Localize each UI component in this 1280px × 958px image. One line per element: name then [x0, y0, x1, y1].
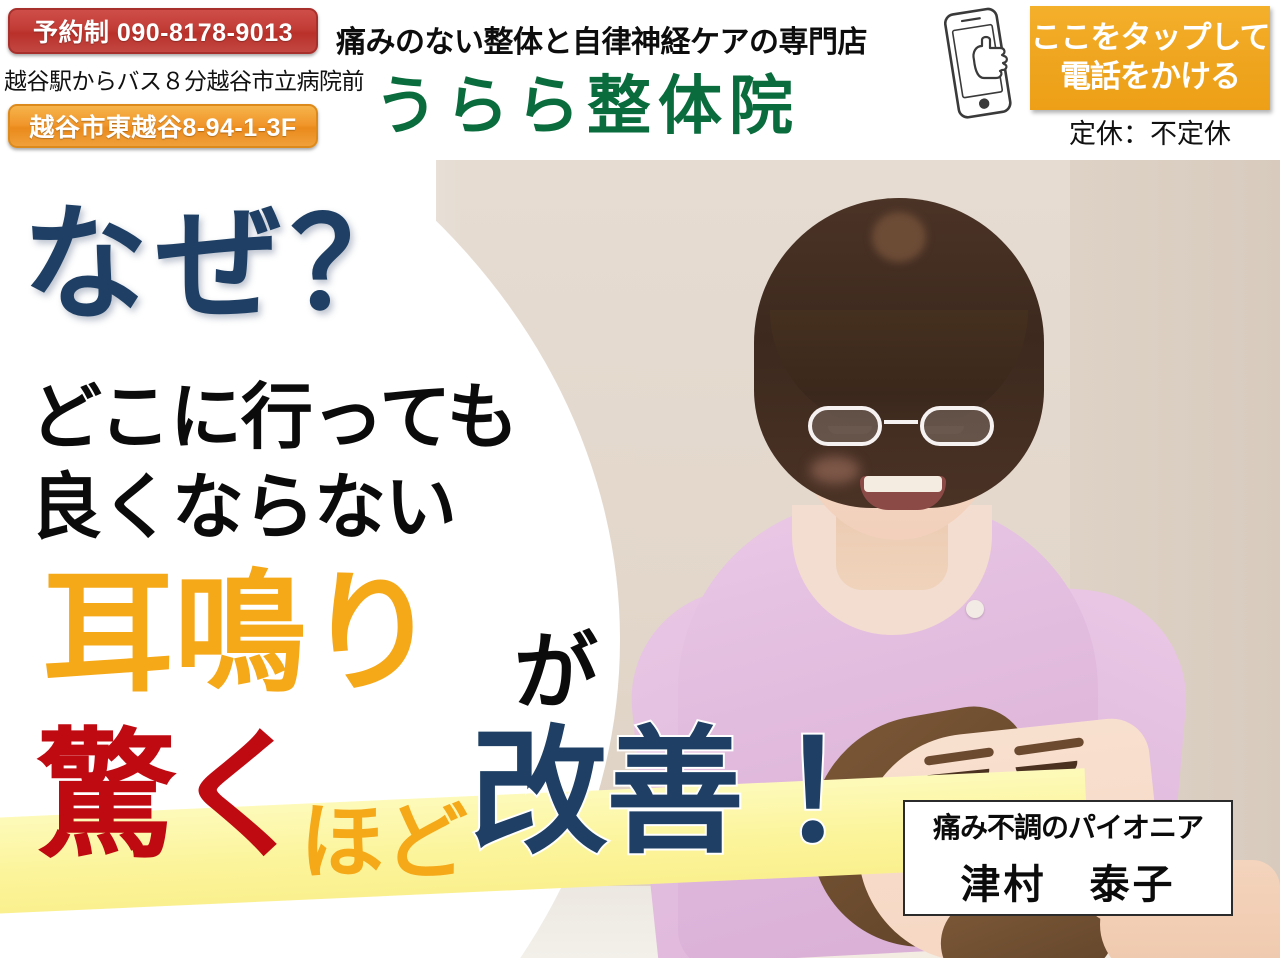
headline-line-2: 良くならない — [30, 472, 456, 544]
practitioner-nameplate: 痛み不調のパイオニア 津村 泰子 — [903, 800, 1233, 916]
therapist-hair-part — [872, 212, 926, 262]
headline-improve: 改善 ！ — [470, 724, 914, 862]
call-now-button[interactable]: ここをタップして 電話をかける — [1030, 6, 1270, 110]
headline-symptom: 耳鳴り — [42, 568, 438, 700]
access-text: 越谷駅からバス８分越谷市立病院前 — [4, 62, 364, 96]
telephone-badge[interactable]: 予約制 090-8178-9013 — [8, 8, 318, 54]
therapist-cheek — [810, 456, 860, 484]
headline-hodo: ほど — [300, 800, 468, 884]
smartphone-tap-icon — [944, 4, 1026, 124]
uniform-button — [966, 600, 984, 618]
practitioner-name: 津村 泰子 — [961, 852, 1176, 910]
eyeglasses-icon — [808, 406, 994, 450]
call-button-line1: ここをタップして — [1030, 21, 1269, 56]
headline-line-1: どこに行っても — [30, 382, 518, 454]
clinic-name: うらら整体院 — [374, 74, 800, 138]
therapist-smile — [860, 476, 946, 510]
landing-page-hero: 予約制 090-8178-9013 越谷駅からバス８分越谷市立病院前 越谷市東越… — [0, 0, 1280, 958]
call-button-line2: 電話をかける — [1060, 60, 1240, 95]
tagline: 痛みのない整体と自律神経ケアの専門店 — [336, 17, 867, 61]
headline-particle: が — [514, 630, 598, 714]
closed-days-note: 定休：不定休 — [1030, 112, 1270, 151]
headline-eyebrow: なぜ？ — [22, 202, 424, 328]
practitioner-role: 痛み不調のパイオニア — [933, 806, 1203, 846]
address-badge[interactable]: 越谷市東越谷8-94-1-3F — [8, 104, 318, 148]
headline-surprise: 驚く — [36, 726, 308, 866]
site-header: 予約制 090-8178-9013 越谷駅からバス８分越谷市立病院前 越谷市東越… — [0, 0, 1280, 160]
